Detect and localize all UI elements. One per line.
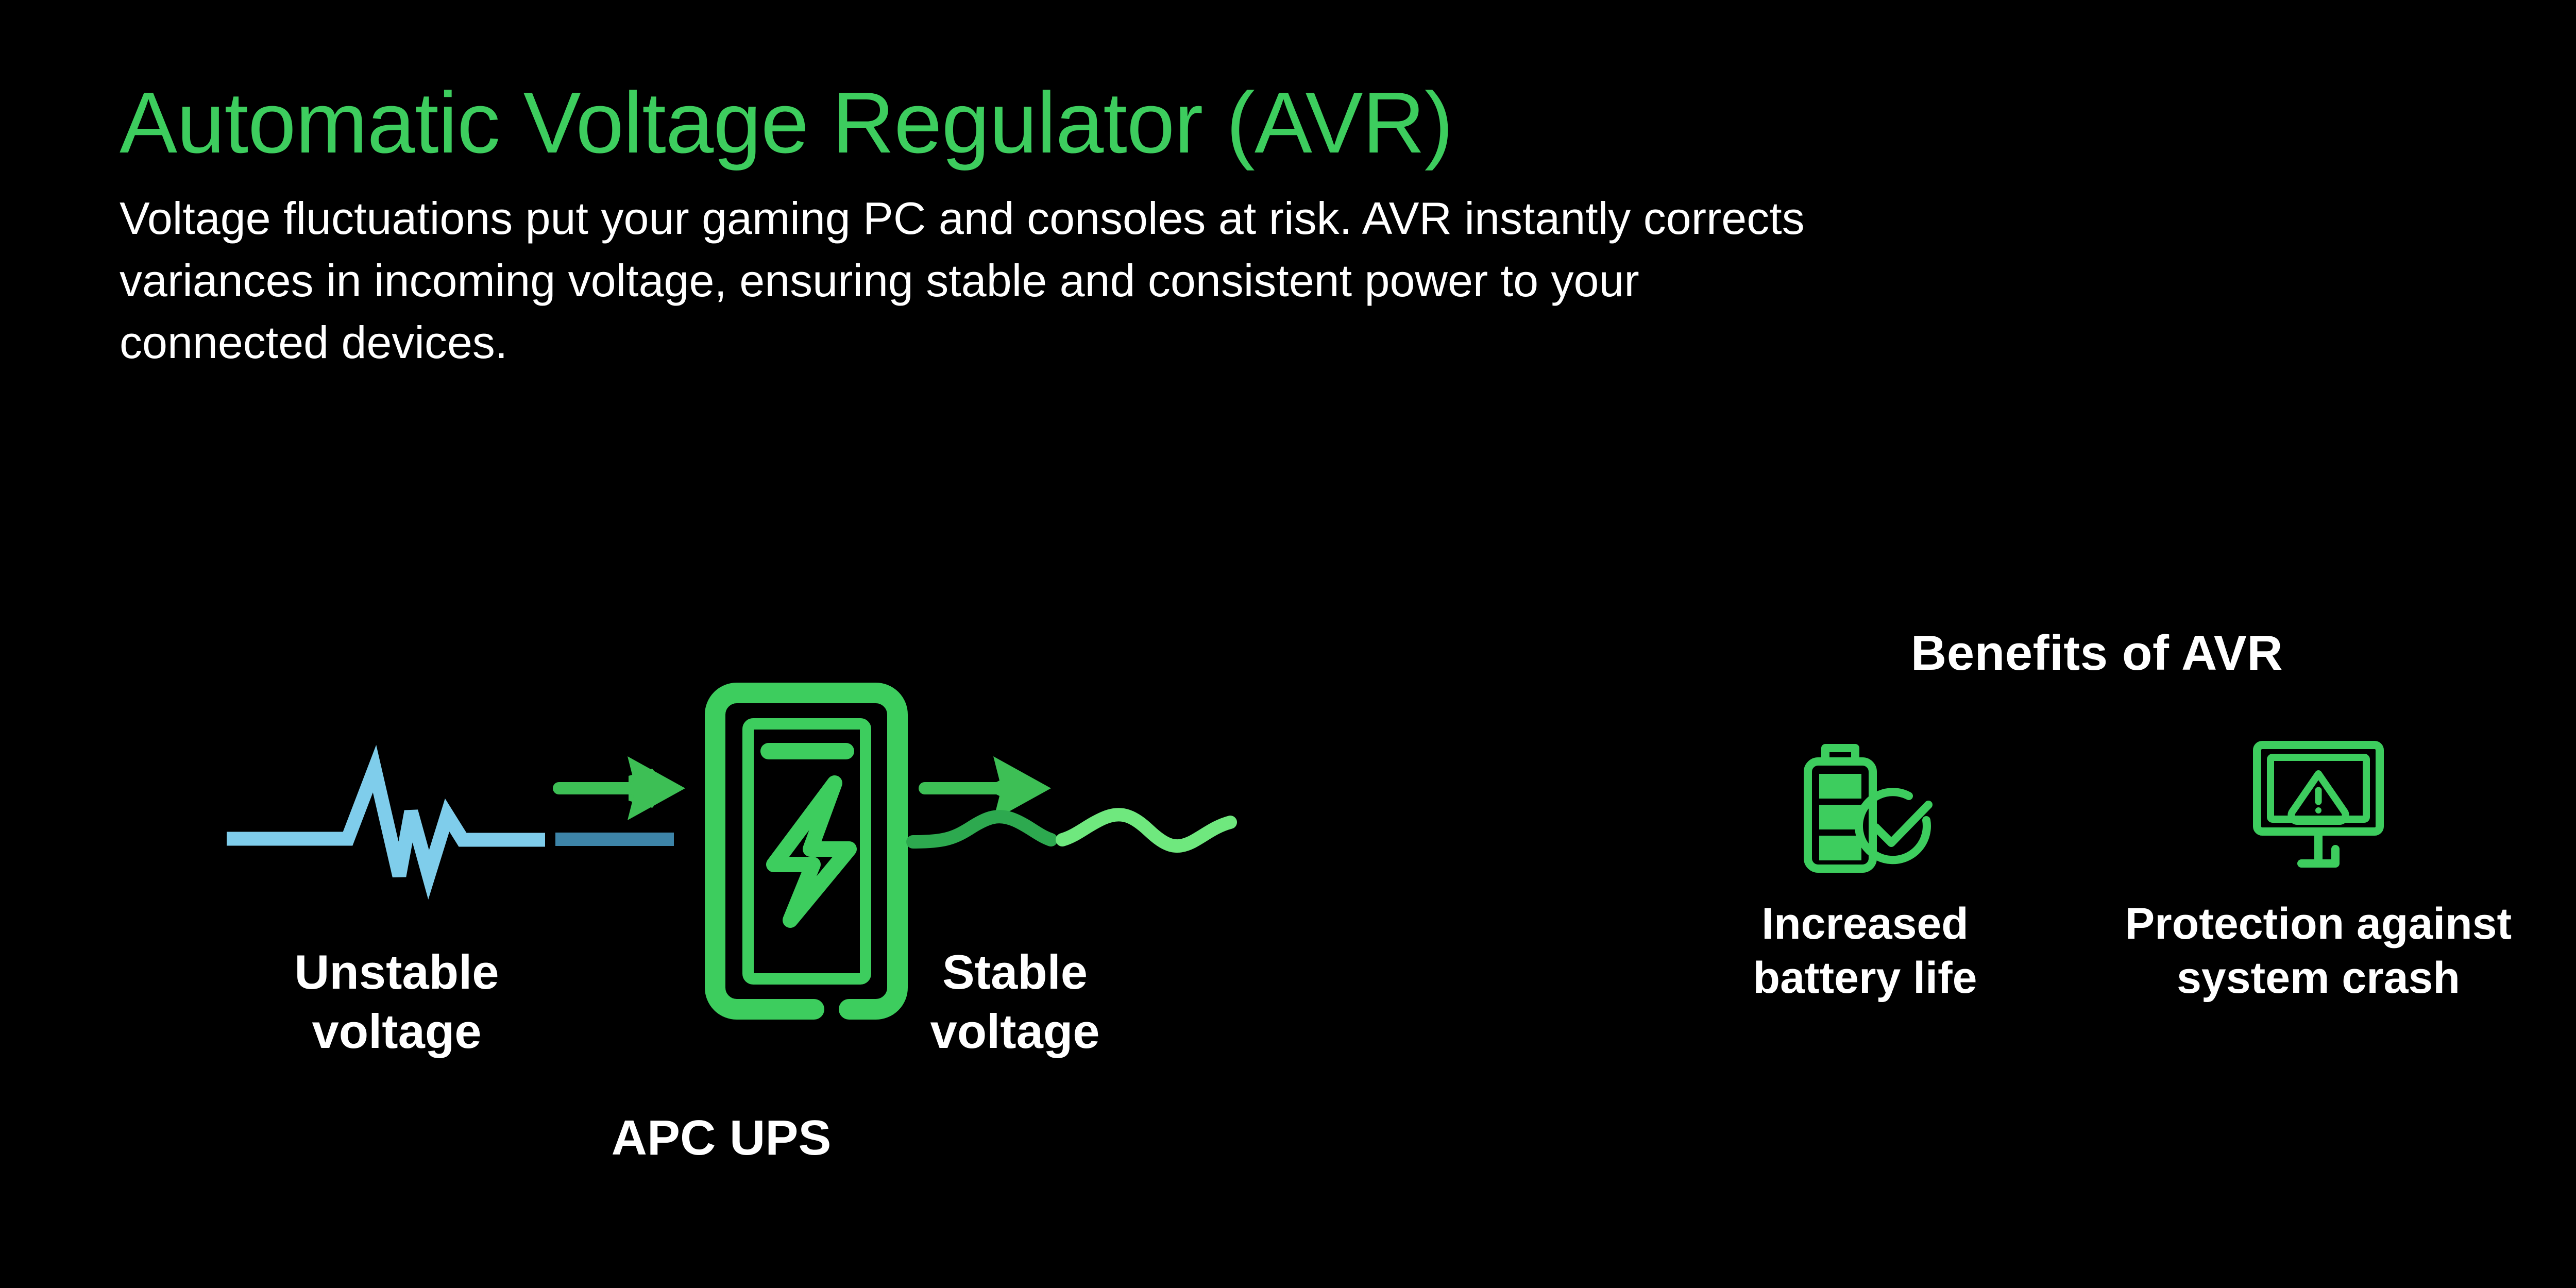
benefit-item: Protection against data loss <box>2545 724 2576 1005</box>
stable-sine-wave-icon <box>913 815 1230 846</box>
monitor-warning-icon <box>2244 726 2393 876</box>
benefits-heading: Benefits of AVR <box>1638 626 2555 681</box>
stable-voltage-label: Stable voltage <box>891 943 1139 1061</box>
apc-ups-label: APC UPS <box>598 1108 845 1168</box>
unstable-waveform-tail <box>555 833 674 846</box>
benefit-icon-wrapper <box>2239 724 2398 878</box>
intro-paragraph: Voltage fluctuations put your gaming PC … <box>120 188 1820 374</box>
avr-flow-diagram: Unstable voltage Stable voltage APC UPS <box>222 634 1396 1190</box>
benefits-row: Increased battery life <box>1638 724 2576 1005</box>
battery-check-icon <box>1790 726 1940 876</box>
arrow-right-icon <box>553 756 685 820</box>
avr-diagram-graphic <box>222 634 1396 1190</box>
lightning-bolt-icon <box>774 783 849 920</box>
arrow-right-icon <box>919 756 1051 820</box>
benefits-section: Benefits of AVR <box>1638 626 2576 1141</box>
benefit-icon-wrapper <box>1785 724 1945 878</box>
slide-canvas: Automatic Voltage Regulator (AVR) Voltag… <box>0 0 2576 1288</box>
benefit-item: Increased battery life <box>1638 724 2092 1005</box>
benefit-caption: Protection against system crash <box>2125 897 2512 1005</box>
unstable-voltage-label: Unstable voltage <box>273 943 520 1061</box>
unstable-waveform-icon <box>227 769 545 876</box>
ups-device-icon <box>715 693 897 1009</box>
page-title: Automatic Voltage Regulator (AVR) <box>120 77 1871 168</box>
header-block: Automatic Voltage Regulator (AVR) Voltag… <box>120 77 1871 374</box>
benefit-caption: Increased battery life <box>1753 897 1977 1005</box>
benefit-item: Protection against system crash <box>2092 724 2545 1005</box>
